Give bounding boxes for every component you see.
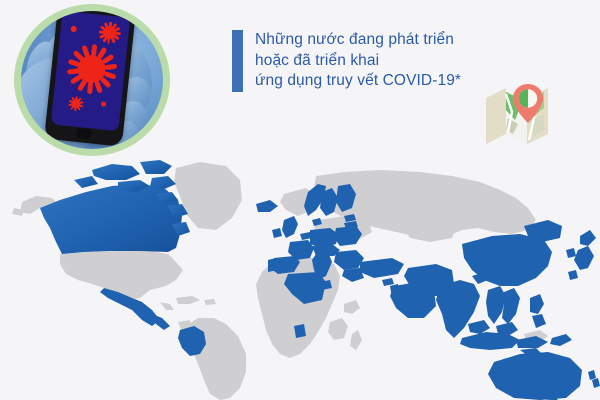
virus-spike <box>98 30 104 33</box>
virus-spike <box>67 68 80 74</box>
folded-map-with-location-pin-icon <box>482 78 560 150</box>
virus-spike <box>67 59 80 68</box>
coronavirus-icon <box>66 94 86 114</box>
infographic-canvas: Những nước đang phát triển hoặc đã triển… <box>0 0 600 400</box>
world-map-svg <box>0 158 600 400</box>
title-accent-bar <box>232 30 243 92</box>
page-title: Những nước đang phát triển hoặc đã triển… <box>255 30 461 92</box>
phone-virus-photo-badge <box>14 4 170 156</box>
virus-dot-icon <box>70 26 77 33</box>
photo-inner <box>21 11 163 149</box>
phone-home-button <box>76 128 91 139</box>
smartphone-icon <box>44 11 136 147</box>
coronavirus-icon <box>62 39 121 98</box>
virus-spike <box>104 64 117 70</box>
map-pin-svg <box>482 78 560 150</box>
virus-dot-icon <box>101 101 106 106</box>
world-map <box>0 158 600 400</box>
virus-spike <box>90 44 96 56</box>
title-block: Những nước đang phát triển hoặc đã triển… <box>232 30 461 92</box>
virus-spike <box>87 82 93 94</box>
phone-screen <box>51 11 131 131</box>
